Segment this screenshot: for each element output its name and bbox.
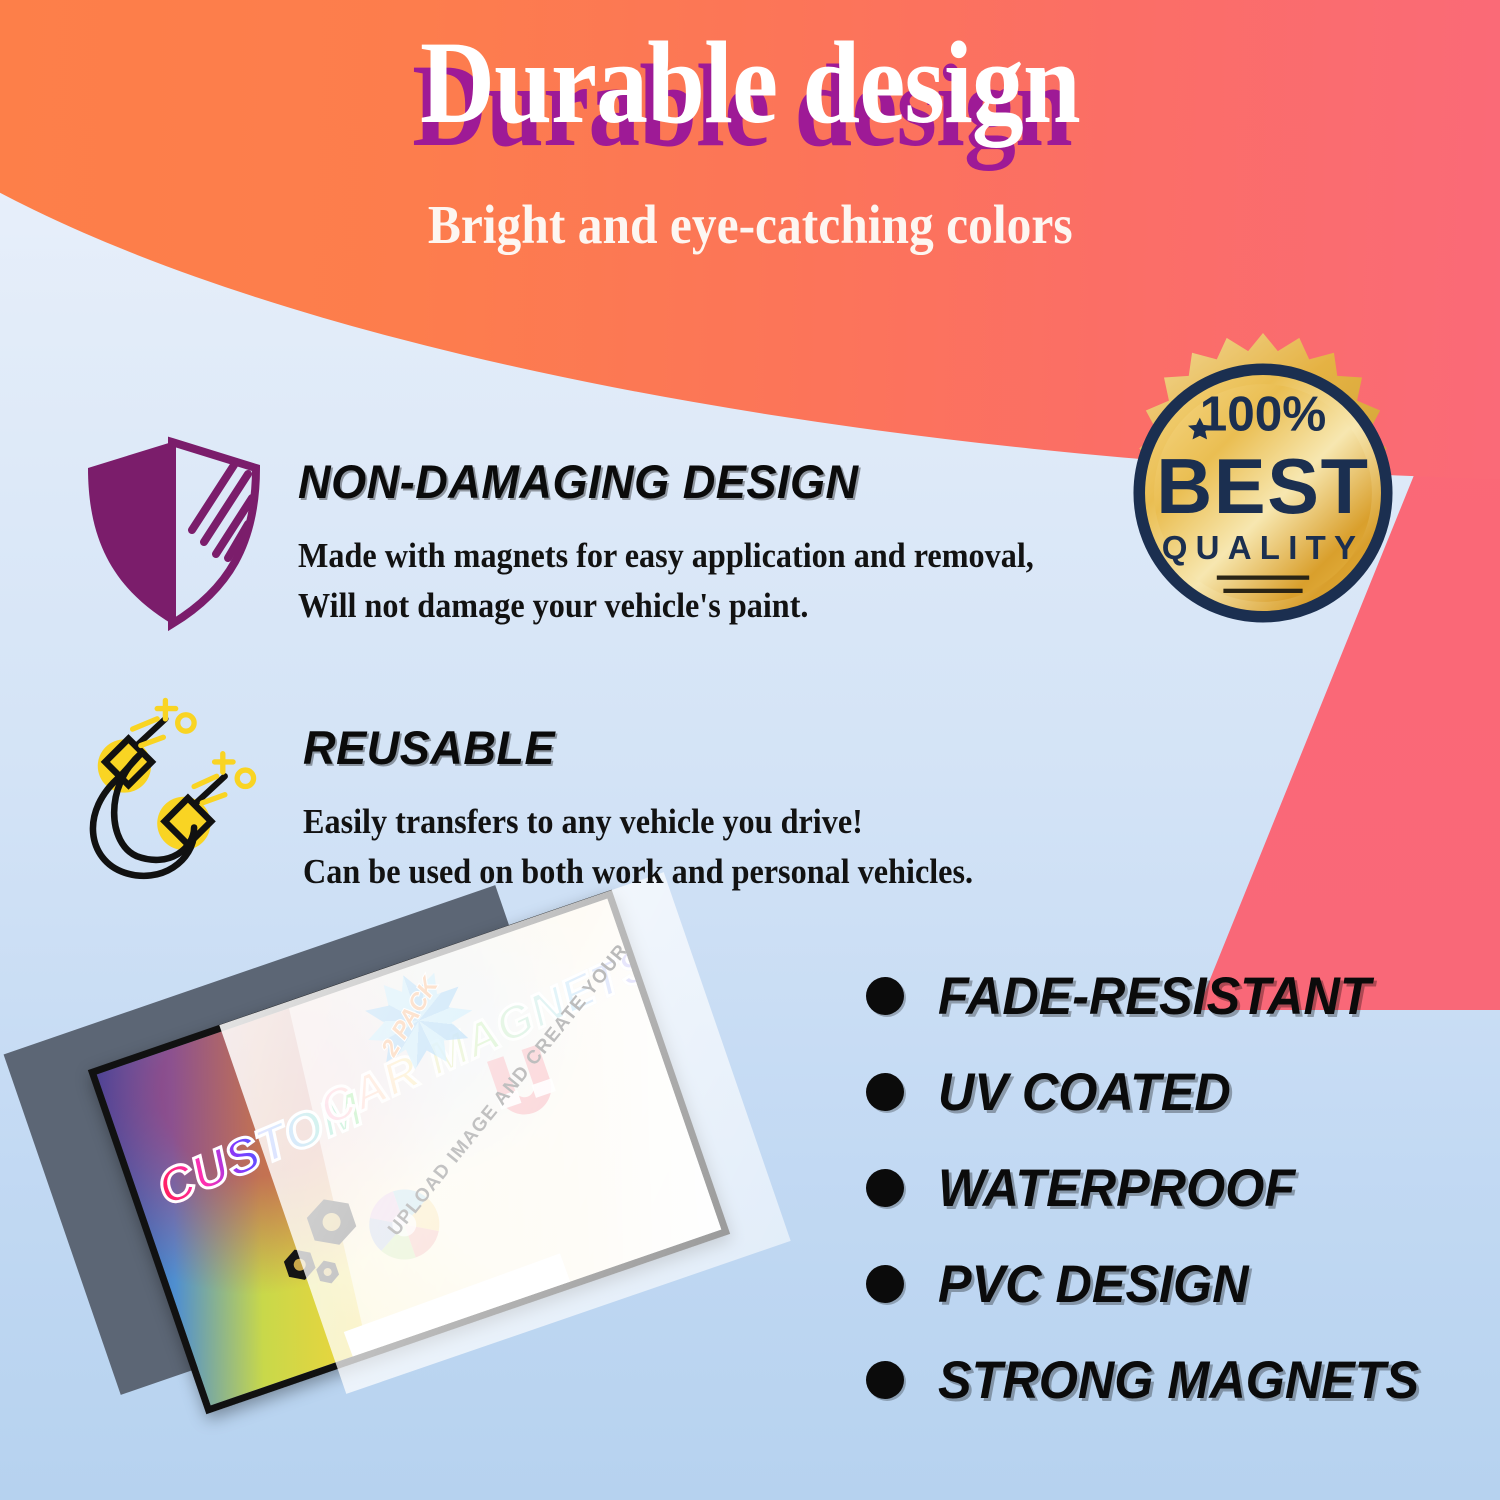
bullet-dot-icon [866, 977, 904, 1015]
list-item: FADE-RESISTANT [866, 948, 1444, 1044]
feature-line-text: Can be used on both work and personal ve… [303, 847, 973, 897]
horseshoe-magnet-icon [62, 684, 277, 894]
badge-sub-text: QUALITY [1162, 529, 1365, 566]
badge-rule-top [1217, 576, 1309, 580]
shield-icon [72, 434, 272, 639]
list-item: STRONG MAGNETS [866, 1332, 1444, 1428]
list-item: UV COATED [866, 1044, 1444, 1140]
list-item: PVC DESIGN [866, 1236, 1444, 1332]
bullet-label: UV COATED [938, 1062, 1231, 1123]
list-item: WATERPROOF [866, 1140, 1444, 1236]
feature-reusable: REUSABLE Easily transfers to any vehicle… [62, 684, 1031, 896]
feature-line-text: Will not damage your vehicle's paint. [298, 581, 808, 631]
feature-line: Will not damage your vehicle's paint. [298, 581, 1098, 631]
infographic-canvas: Durable design Durable design Bright and… [0, 0, 1500, 1500]
bullet-label: WATERPROOF [938, 1158, 1295, 1219]
bullet-dot-icon [866, 1073, 904, 1111]
best-quality-badge: 100% BEST QUALITY [1098, 328, 1428, 658]
bullet-label: PVC DESIGN [938, 1254, 1249, 1315]
feature-bullet-list: FADE-RESISTANT UV COATED WATERPROOF PVC … [866, 948, 1444, 1428]
feature-line-text: Made with magnets for easy application a… [298, 531, 1034, 581]
page-title-front: Durable design [420, 24, 1080, 142]
feature-title: NON-DAMAGING DESIGN [298, 454, 1066, 509]
product-photo: CUSTOM CAR MAGNETS 2 PACK [40, 930, 840, 1450]
bullet-label: STRONG MAGNETS [938, 1350, 1419, 1411]
bullet-dot-icon [866, 1169, 904, 1207]
page-subtitle-text: Bright and eye-catching colors [428, 193, 1073, 256]
feature-line: Can be used on both work and personal ve… [303, 847, 1031, 897]
feature-line-text: Easily transfers to any vehicle you driv… [303, 797, 863, 847]
feature-title: REUSABLE [303, 720, 1002, 775]
page-title: Durable design Durable design [0, 24, 1500, 142]
badge-rule-bottom [1223, 589, 1302, 593]
bullet-dot-icon [866, 1265, 904, 1303]
badge-percent-text: 100% [1200, 386, 1327, 441]
feature-line: Made with magnets for easy application a… [298, 531, 1098, 581]
feature-non-damaging-design: NON-DAMAGING DESIGN Made with magnets fo… [72, 434, 1098, 639]
badge-main-text: BEST [1156, 444, 1369, 530]
bullet-label: FADE-RESISTANT [938, 966, 1371, 1027]
feature-line: Easily transfers to any vehicle you driv… [303, 797, 1031, 847]
bullet-dot-icon [866, 1361, 904, 1399]
page-subtitle: Bright and eye-catching colors [0, 193, 1500, 256]
